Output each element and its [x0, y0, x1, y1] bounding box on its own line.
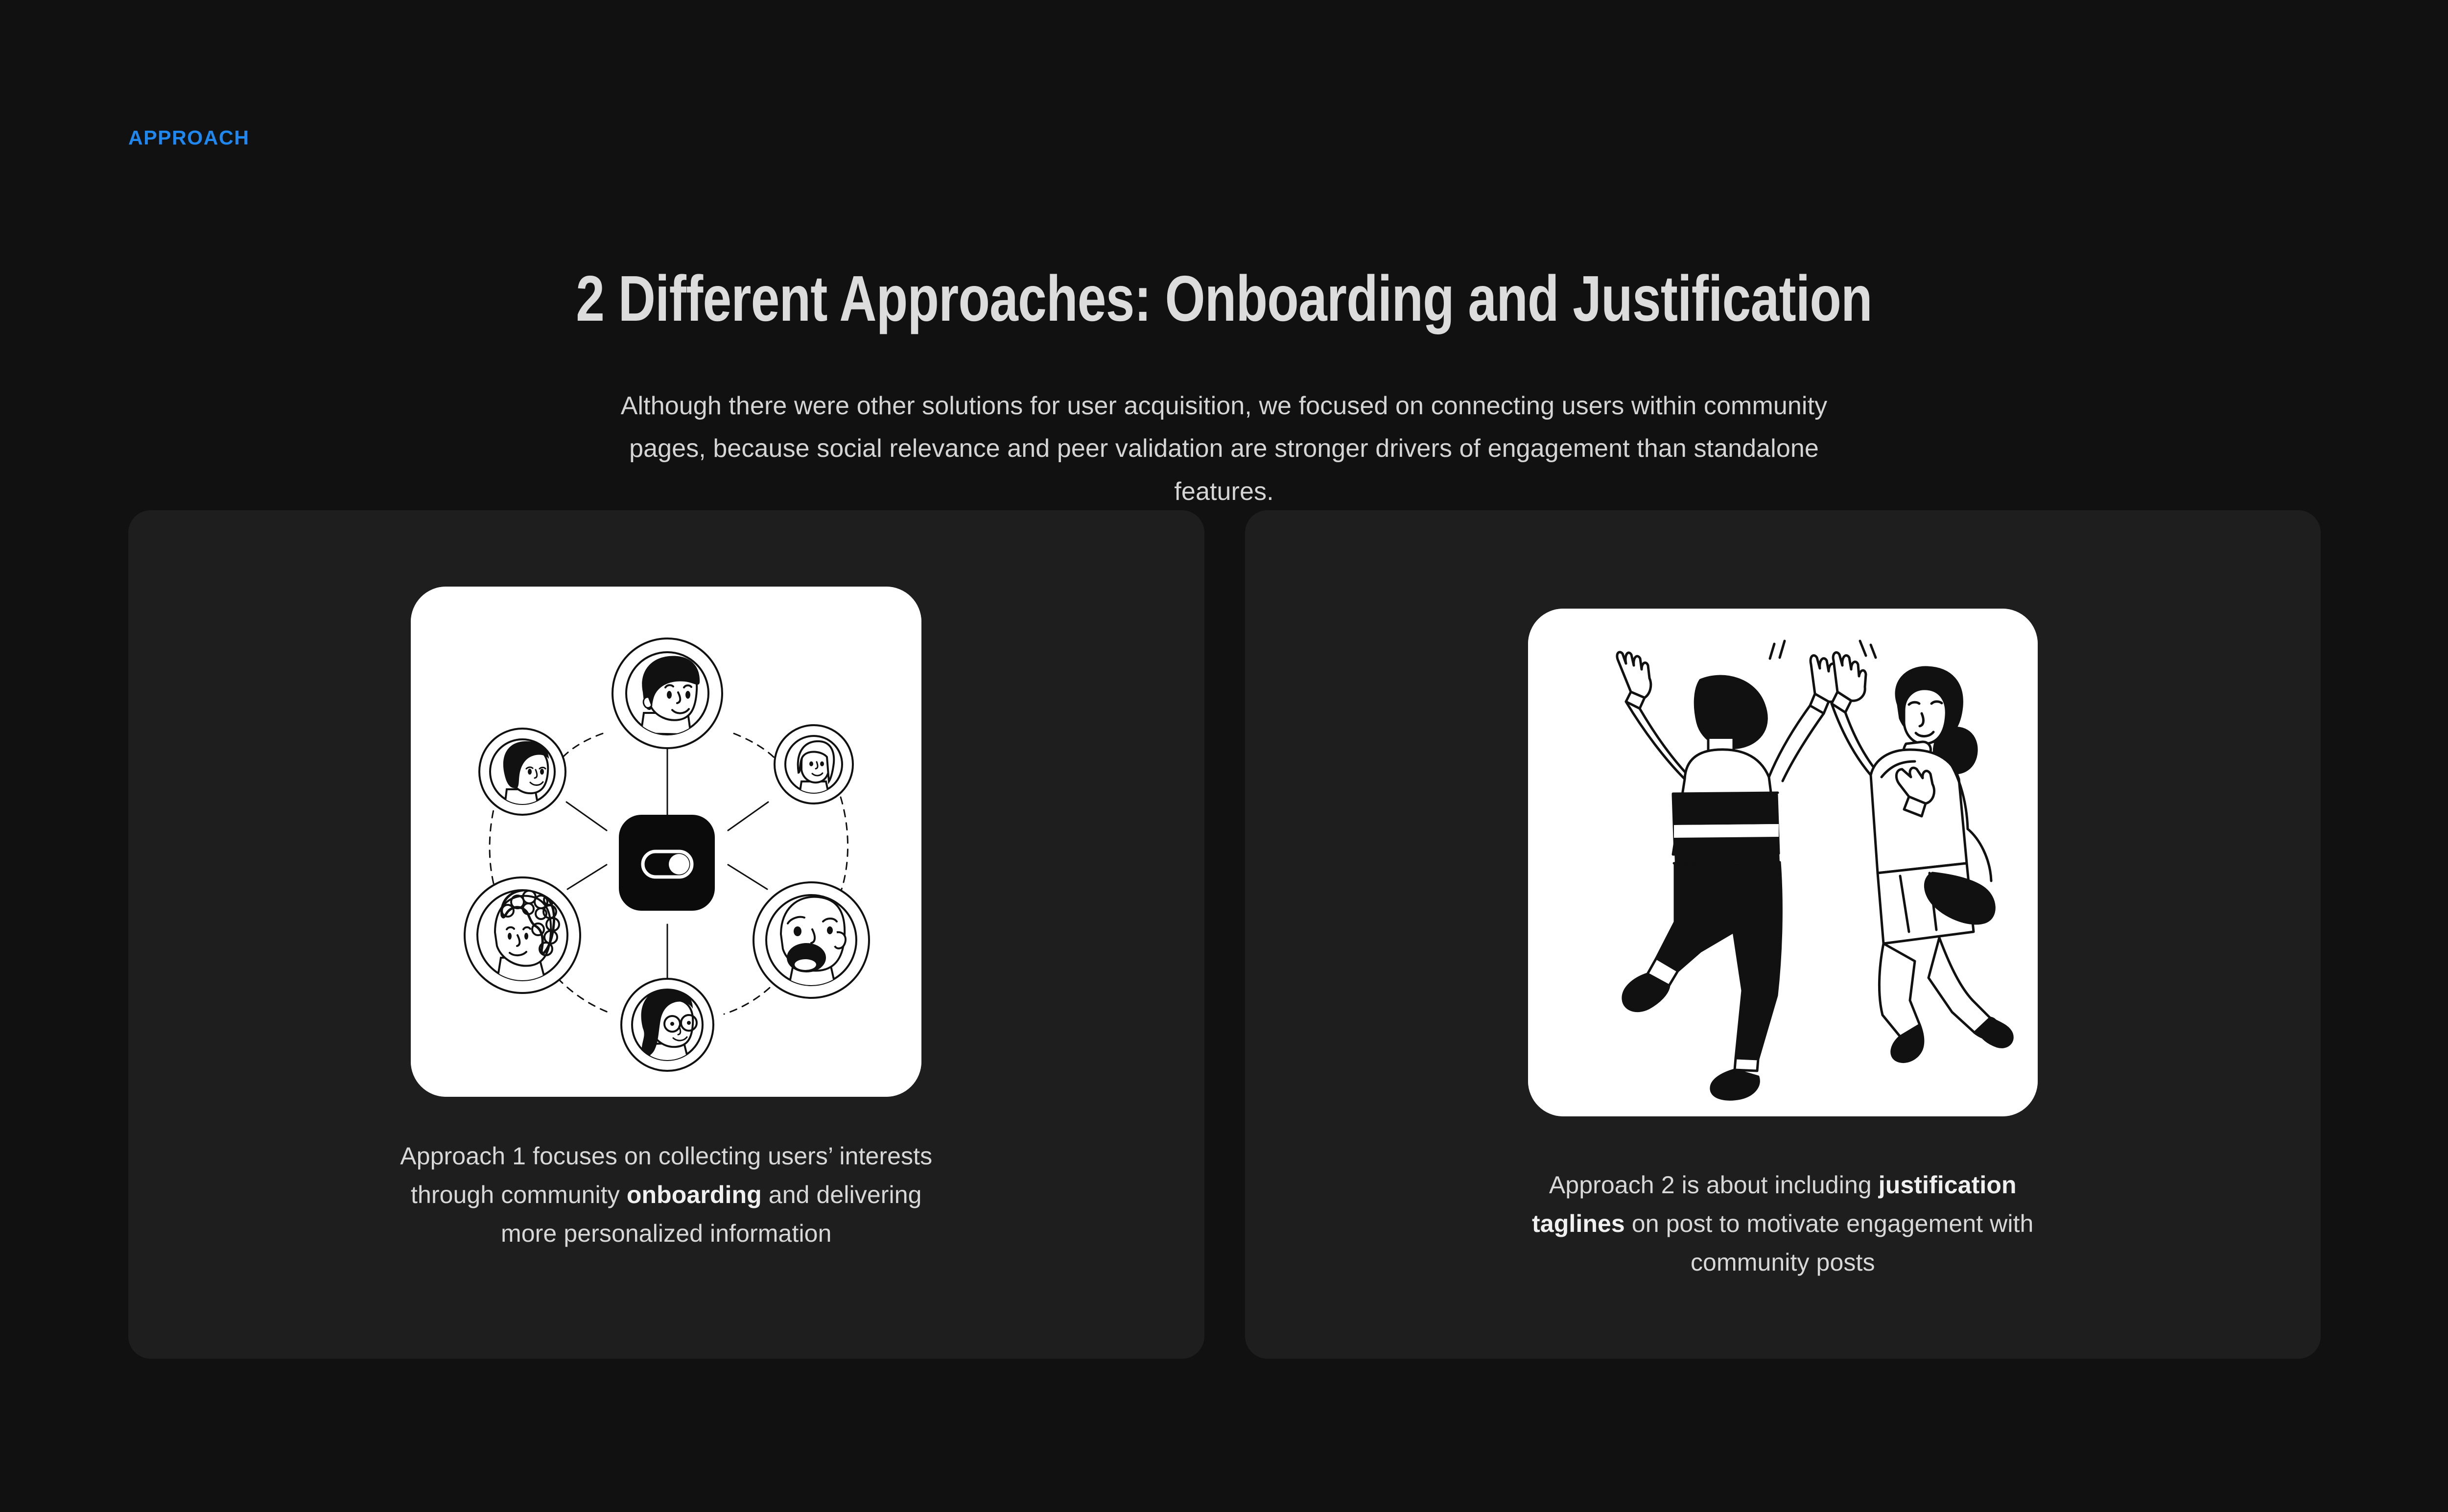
slide-root: APPROACH 2 Different Approaches: Onboard… [0, 0, 2448, 1512]
avatar-right-upper [775, 725, 853, 803]
avatar-left-lower [465, 877, 580, 993]
avatar-left-upper [479, 729, 565, 815]
approach-card-2[interactable]: Approach 2 is about including justificat… [1245, 510, 2321, 1359]
high-five-celebration-illustration [1528, 609, 2038, 1116]
avatar-bottom [621, 979, 713, 1071]
caption-text-before: Approach 2 is about including [1549, 1171, 1879, 1199]
caption-text-bold: onboarding [627, 1181, 762, 1208]
high-five-celebration-svg [1528, 609, 2038, 1116]
community-network-svg [411, 587, 921, 1097]
page-title: 2 Different Approaches: Onboarding and J… [245, 264, 2203, 333]
avatar-top [612, 638, 722, 748]
approach-card-1[interactable]: Approach 1 focuses on collecting users’ … [128, 510, 1204, 1359]
approach-cards-row: Approach 1 focuses on collecting users’ … [128, 510, 2321, 1359]
avatar-right-lower [753, 882, 869, 998]
page-subtitle: Although there were other solutions for … [619, 385, 1829, 513]
approach-card-2-caption: Approach 2 is about including justificat… [1508, 1166, 2057, 1282]
caption-text-after: on post to motivate engagement with comm… [1625, 1210, 2034, 1276]
section-eyebrow-label: APPROACH [128, 128, 249, 148]
approach-card-1-caption: Approach 1 focuses on collecting users’ … [392, 1137, 941, 1253]
community-network-illustration [411, 587, 921, 1097]
toggle-tile [619, 815, 715, 911]
